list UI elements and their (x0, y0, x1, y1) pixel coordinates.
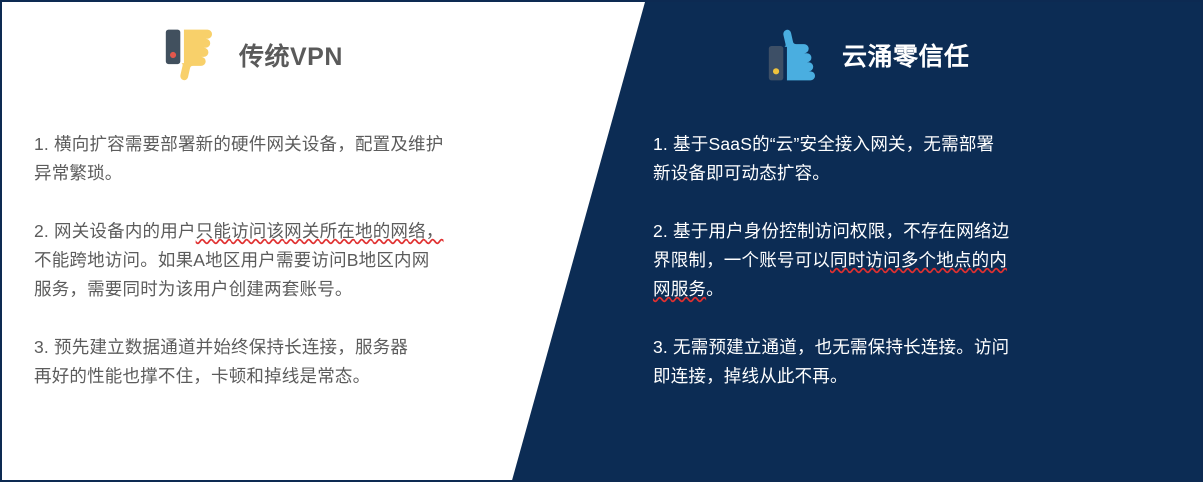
right-item-2-text: 2. 基于用户身份控制访问权限，不存在网络边 界限制，一个账号可以同时访问多个地… (653, 221, 1009, 299)
comparison-panel: 传统VPN 1. 横向扩容需要部署新的硬件网关设备，配置及维护 异常繁琐。 2.… (0, 0, 1203, 482)
spellcheck-underline: 所 (320, 221, 338, 241)
right-item-1: 1. 基于SaaS的“云”安全接入网关，无需部署 新设备即可动态扩容。 (653, 130, 1153, 188)
spellcheck-underline: 地 (936, 250, 954, 270)
spellcheck-underline: 络 (408, 221, 426, 241)
spellcheck-underline: 务 (688, 279, 706, 299)
spellcheck-underline: 同 (830, 250, 848, 270)
spellcheck-underline: 网 (284, 221, 302, 241)
left-item-2-text: 2. 网关设备内的用户只能访问该网关所在地的网络， 不能跨地访问。如果A地区用户… (34, 221, 444, 299)
spellcheck-underline: 网 (653, 279, 671, 299)
spellcheck-underline: 服 (671, 279, 689, 299)
thumbs-up-icon (767, 26, 825, 84)
spellcheck-underline: 问 (883, 250, 901, 270)
spellcheck-underline: 的 (373, 221, 391, 241)
spellcheck-underline: ， (426, 221, 444, 241)
spellcheck-underline: 地 (355, 221, 373, 241)
spellcheck-underline: 内 (989, 250, 1007, 270)
thumbs-down-icon (164, 26, 222, 84)
spellcheck-underline: 访 (231, 221, 249, 241)
spellcheck-underline: 时 (848, 250, 866, 270)
right-column: 云涌零信任 1. 基于SaaS的“云”安全接入网关，无需部署 新设备即可动态扩容… (605, 2, 1203, 482)
left-column: 传统VPN 1. 横向扩容需要部署新的硬件网关设备，配置及维护 异常繁琐。 2.… (2, 2, 602, 482)
left-column-header: 传统VPN (164, 26, 343, 84)
left-column-title: 传统VPN (239, 37, 343, 73)
spellcheck-underline: 问 (249, 221, 267, 241)
left-paragraph-list: 1. 横向扩容需要部署新的硬件网关设备，配置及维护 异常繁琐。 2. 网关设备内… (34, 130, 564, 420)
spellcheck-underline: 在 (337, 221, 355, 241)
right-column-header: 云涌零信任 (767, 26, 970, 84)
right-column-title: 云涌零信任 (842, 37, 970, 73)
spellcheck-underline: 多 (901, 250, 919, 270)
spellcheck-underline: 访 (865, 250, 883, 270)
spellcheck-underline: 该 (266, 221, 284, 241)
right-item-3: 3. 无需预建立通道，也无需保持长连接。访问 即连接，掉线从此不再。 (653, 333, 1153, 391)
spellcheck-underline: 只 (196, 221, 214, 241)
right-paragraph-list: 1. 基于SaaS的“云”安全接入网关，无需部署 新设备即可动态扩容。 2. 基… (653, 130, 1153, 420)
spellcheck-underline: 关 (302, 221, 320, 241)
left-item-1: 1. 横向扩容需要部署新的硬件网关设备，配置及维护 异常繁琐。 (34, 130, 564, 188)
spellcheck-underline: 网 (390, 221, 408, 241)
spellcheck-underline: 能 (213, 221, 231, 241)
left-item-2: 2. 网关设备内的用户只能访问该网关所在地的网络， 不能跨地访问。如果A地区用户… (34, 217, 564, 304)
spellcheck-underline: 个 (919, 250, 937, 270)
right-item-2: 2. 基于用户身份控制访问权限，不存在网络边 界限制，一个账号可以同时访问多个地… (653, 217, 1153, 304)
left-item-3: 3. 预先建立数据通道并始终保持长连接，服务器 再好的性能也撑不住，卡顿和掉线是… (34, 333, 564, 391)
spellcheck-underline: 的 (972, 250, 990, 270)
spellcheck-underline: 点 (954, 250, 972, 270)
